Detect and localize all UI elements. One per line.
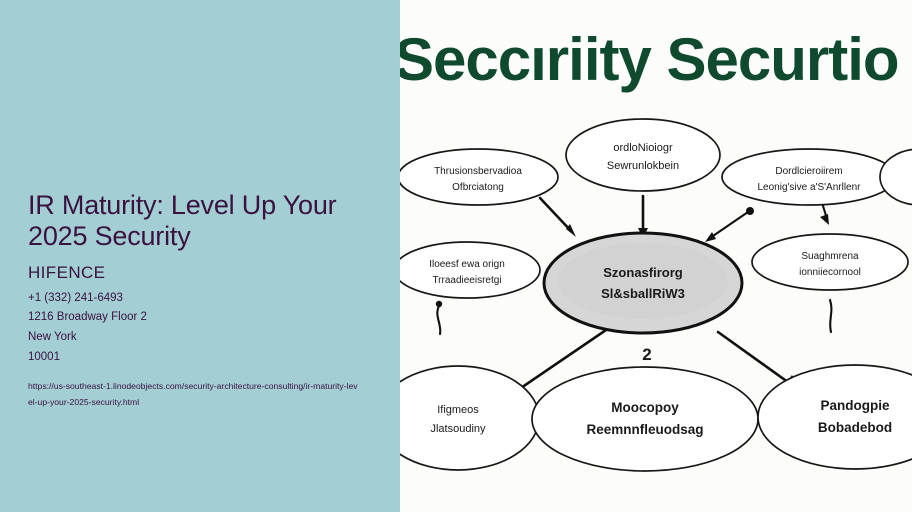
source-url[interactable]: https://us-southeast-1.linodeobjects.com…	[28, 378, 360, 412]
node-top-left-line2: Ofbrciatong	[452, 182, 504, 193]
concept-map-diagram: 1 2 Thrusionsbervadioa Ofbrciatong ordlo…	[400, 0, 912, 512]
address-street: 1216 Broadway Floor 2	[28, 308, 376, 328]
diagram-panel: Seccıriity Securtio	[400, 0, 912, 512]
node-top-left-line1: Thrusionsbervadioa	[434, 166, 522, 177]
node-bottom-center[interactable]: Moocopoy Reemnnfleuodsag	[532, 367, 758, 471]
node-top-center[interactable]: ordloNioiogr Sewrunlokbein	[566, 119, 720, 191]
arrow-midright-down	[830, 300, 831, 332]
node-bottom-center-line1: Moocopoy	[611, 400, 679, 415]
sidebar-content: IR Maturity: Level Up Your 2025 Security…	[28, 190, 376, 411]
url-line-1: https://us-southeast-1.linodeobjects.com…	[28, 381, 278, 391]
source-url-part1: https://us-southeast-1.linodeobjects.com…	[28, 381, 278, 391]
node-mid-right[interactable]: Suaghmrena ionniiecornool	[752, 234, 908, 290]
node-mid-left-line2: Trraadieeisretgi	[432, 275, 501, 286]
node-mid-right-line1: Suaghmrena	[801, 251, 859, 262]
node-bottom-center-line2: Reemnnfleuodsag	[586, 422, 703, 437]
node-top-right-line1: Dordlcieroiirem	[775, 166, 842, 177]
node-center-line2: Sl&sballRiW3	[601, 286, 685, 301]
arrow-topleft-to-center	[540, 198, 576, 237]
node-mid-left-line1: Iloeesf ewa orign	[429, 259, 505, 270]
node-top-center-line2: Sewrunlokbein	[607, 160, 679, 172]
node-bottom-left-line2: Jlatsoudiny	[430, 423, 486, 435]
page-root: IR Maturity: Level Up Your 2025 Security…	[0, 0, 912, 512]
arrow-midleft-to-center	[436, 301, 442, 334]
node-center-focus[interactable]: Szonasfirorg Sl&sballRiW3	[544, 233, 742, 333]
address-city: New York	[28, 328, 376, 348]
arrow-topright-to-center	[705, 207, 754, 242]
node-bottom-right-line2: Bobadebod	[818, 420, 892, 435]
node-mid-right-line2: ionniiecornool	[799, 267, 861, 278]
brand-name: HIFENCE	[28, 263, 376, 283]
node-far-right-partial[interactable]	[880, 149, 912, 205]
annotation-2: 2	[642, 345, 651, 364]
node-mid-left[interactable]: Iloeesf ewa orign Trraadieeisretgi	[400, 242, 540, 298]
node-bottom-right-line1: Pandogpie	[820, 398, 889, 413]
address-zip: 10001	[28, 348, 376, 368]
page-title: IR Maturity: Level Up Your 2025 Security	[28, 190, 358, 252]
node-bottom-right[interactable]: Pandogpie Bobadebod	[758, 365, 912, 469]
node-top-right-line2: Leonig'sive a'S'Anrllenr	[757, 182, 861, 193]
node-bottom-left-line1: Ifigmeos	[437, 404, 479, 416]
node-top-center-line1: ordloNioiogr	[613, 142, 673, 154]
node-bottom-left[interactable]: Ifigmeos Jlatsoudiny	[400, 366, 539, 470]
node-center-line1: Szonasfirorg	[603, 265, 683, 280]
node-top-right[interactable]: Dordlcieroiirem Leonig'sive a'S'Anrllenr	[722, 149, 896, 205]
contact-phone: +1 (332) 241-6493	[28, 289, 376, 309]
article-sidebar: IR Maturity: Level Up Your 2025 Security…	[0, 0, 400, 512]
node-top-left[interactable]: Thrusionsbervadioa Ofbrciatong	[400, 149, 558, 205]
